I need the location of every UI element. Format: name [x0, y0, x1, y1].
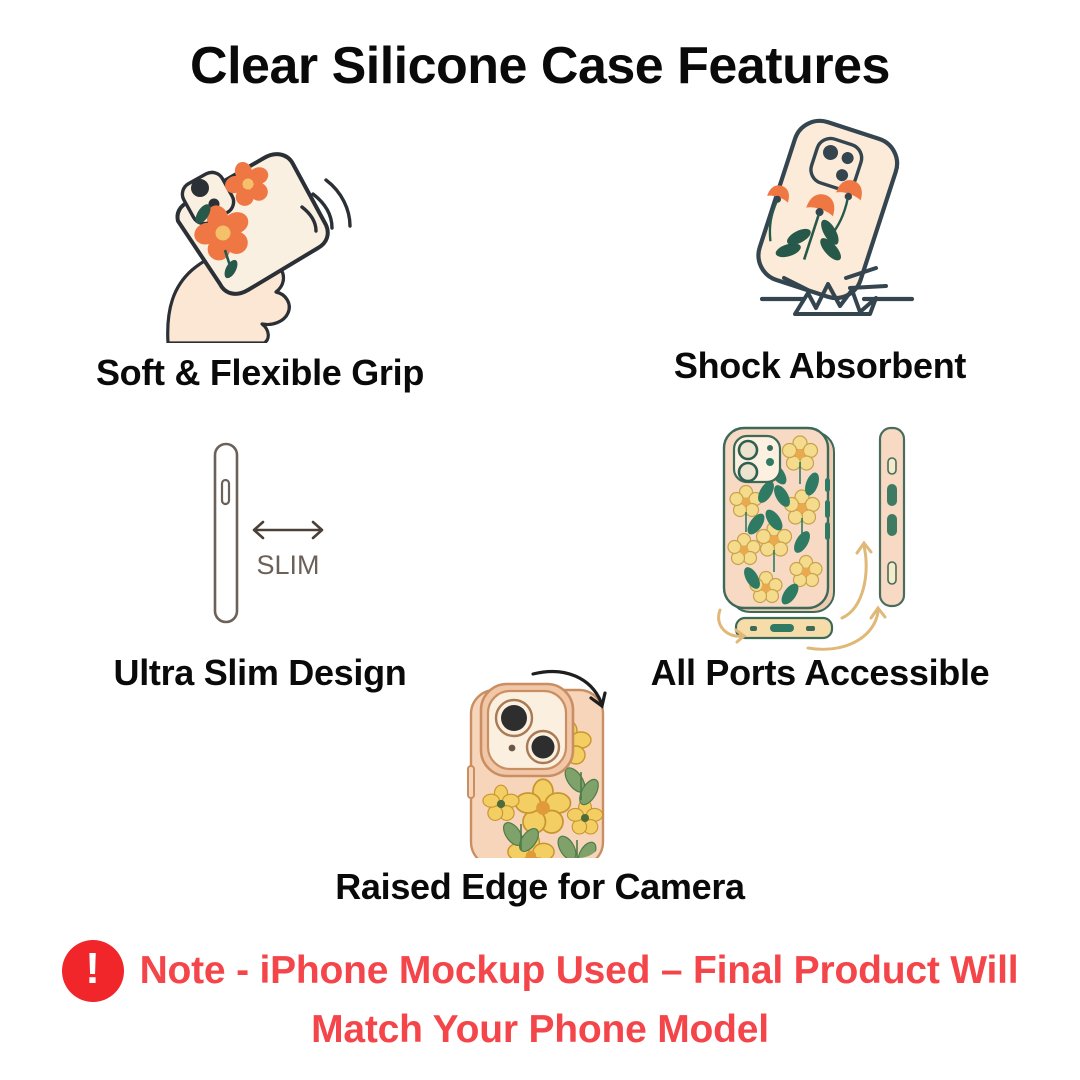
phone-ports-cutouts-icon — [712, 422, 937, 652]
note-line-2: Match Your Phone Model — [0, 1008, 1080, 1052]
feature-infographic: Clear Silicone Case Features — [0, 0, 1080, 1080]
note-line-1: Note - iPhone Mockup Used – Final Produc… — [140, 949, 1019, 993]
slim-measure-label: SLIM — [256, 550, 319, 580]
exclamation-glyph: ! — [85, 947, 100, 991]
hand-holding-flexing-phone-case-icon — [130, 118, 390, 343]
exclamation-circle-icon: ! — [62, 940, 124, 1002]
phone-side-profile-slim-icon: SLIM — [195, 438, 345, 628]
phone-camera-raised-lip-icon — [455, 668, 635, 858]
feature-label-shock-absorbent: Shock Absorbent — [560, 345, 1080, 387]
note-banner: ! Note - iPhone Mockup Used – Final Prod… — [0, 940, 1080, 1052]
feature-label-all-ports-accessible: All Ports Accessible — [560, 652, 1080, 694]
feature-label-ultra-slim-design: Ultra Slim Design — [0, 652, 520, 694]
feature-label-raised-edge-for-camera: Raised Edge for Camera — [0, 866, 1080, 908]
phone-impact-burst-icon — [700, 118, 950, 333]
page-title: Clear Silicone Case Features — [0, 36, 1080, 96]
feature-label-soft-flexible-grip: Soft & Flexible Grip — [0, 352, 520, 394]
